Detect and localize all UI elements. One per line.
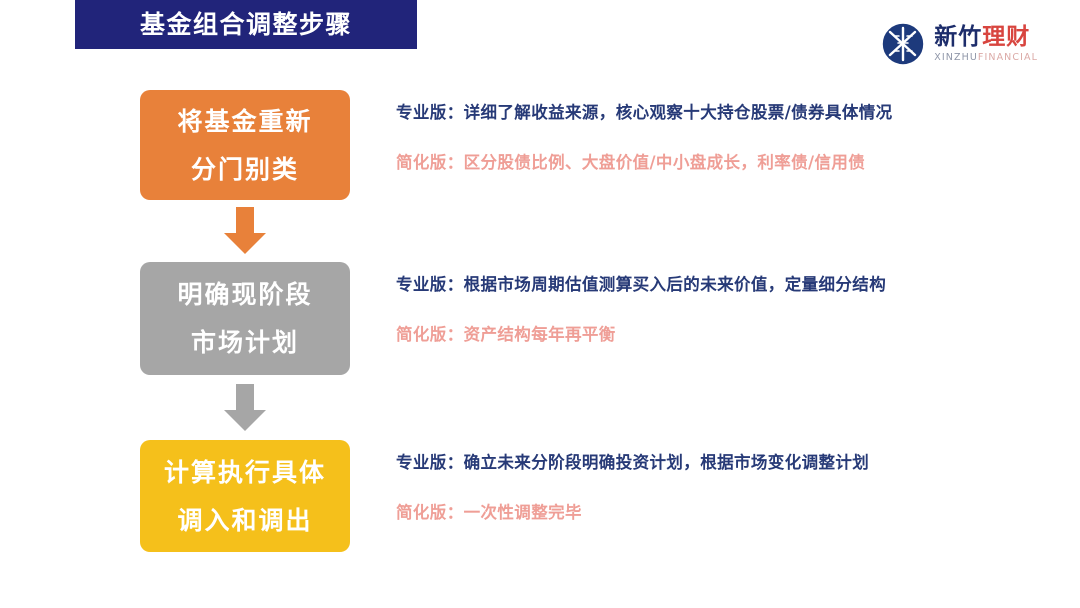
flow-step-1: 将基金重新 分门别类 (140, 90, 350, 200)
flow-step-3-line-1: 计算执行具体 (164, 460, 326, 485)
flow-step-2: 明确现阶段 市场计划 (140, 262, 350, 375)
detail-row-2: 专业版：根据市场周期估值测算买入后的未来价值，定量细分结构 简化版：资产结构每年… (396, 277, 1036, 343)
detail-row-1: 专业版：详细了解收益来源，核心观察十大持仓股票/债券具体情况 简化版：区分股债比… (396, 105, 1036, 171)
page-title: 基金组合调整步骤 (140, 12, 352, 37)
detail-row-3-simplified: 简化版：一次性调整完毕 (396, 505, 1036, 522)
detail-row-2-professional: 专业版：根据市场周期估值测算买入后的未来价值，定量细分结构 (396, 277, 1036, 294)
detail-row-2-simplified: 简化版：资产结构每年再平衡 (396, 327, 1036, 344)
brand-logo: 新竹理财 XINZHUFINANCIAL (881, 22, 1038, 66)
xinzhu-circular-emblem-icon (881, 22, 925, 66)
detail-row-1-professional: 专业版：详细了解收益来源，核心观察十大持仓股票/债券具体情况 (396, 105, 1036, 122)
detail-row-3-professional: 专业版：确立未来分阶段明确投资计划，根据市场变化调整计划 (396, 455, 1036, 472)
flow-step-2-line-2: 市场计划 (191, 330, 299, 355)
brand-name-cn-part1: 新竹 (934, 24, 982, 50)
detail-row-1-simplified: 简化版：区分股债比例、大盘价值/中小盘成长，利率债/信用债 (396, 155, 1036, 172)
process-flow-column: 将基金重新 分门别类 明确现阶段 市场计划 计算执行具体 调入和调出 (140, 90, 350, 552)
brand-name-cn: 新竹理财 (934, 26, 1038, 49)
flow-step-2-line-1: 明确现阶段 (177, 282, 312, 307)
flow-arrow-1-wrap (140, 200, 350, 262)
flow-step-3-line-2: 调入和调出 (177, 508, 312, 533)
brand-name-en: XINZHUFINANCIAL (934, 53, 1038, 63)
brand-name-cn-part2: 理财 (982, 24, 1030, 50)
arrow-down-icon (222, 384, 268, 432)
brand-name-en-part2: FINANCIAL (978, 52, 1038, 63)
arrow-down-icon (222, 207, 268, 255)
brand-wordmark: 新竹理财 XINZHUFINANCIAL (934, 26, 1038, 63)
flow-step-3: 计算执行具体 调入和调出 (140, 440, 350, 552)
flow-step-1-line-2: 分门别类 (191, 157, 299, 182)
brand-name-en-part1: XINZHU (934, 52, 978, 63)
page-title-bar: 基金组合调整步骤 (75, 0, 417, 49)
flow-step-1-line-1: 将基金重新 (177, 109, 312, 134)
flow-arrow-2-wrap (140, 375, 350, 440)
detail-row-3: 专业版：确立未来分阶段明确投资计划，根据市场变化调整计划 简化版：一次性调整完毕 (396, 455, 1036, 521)
